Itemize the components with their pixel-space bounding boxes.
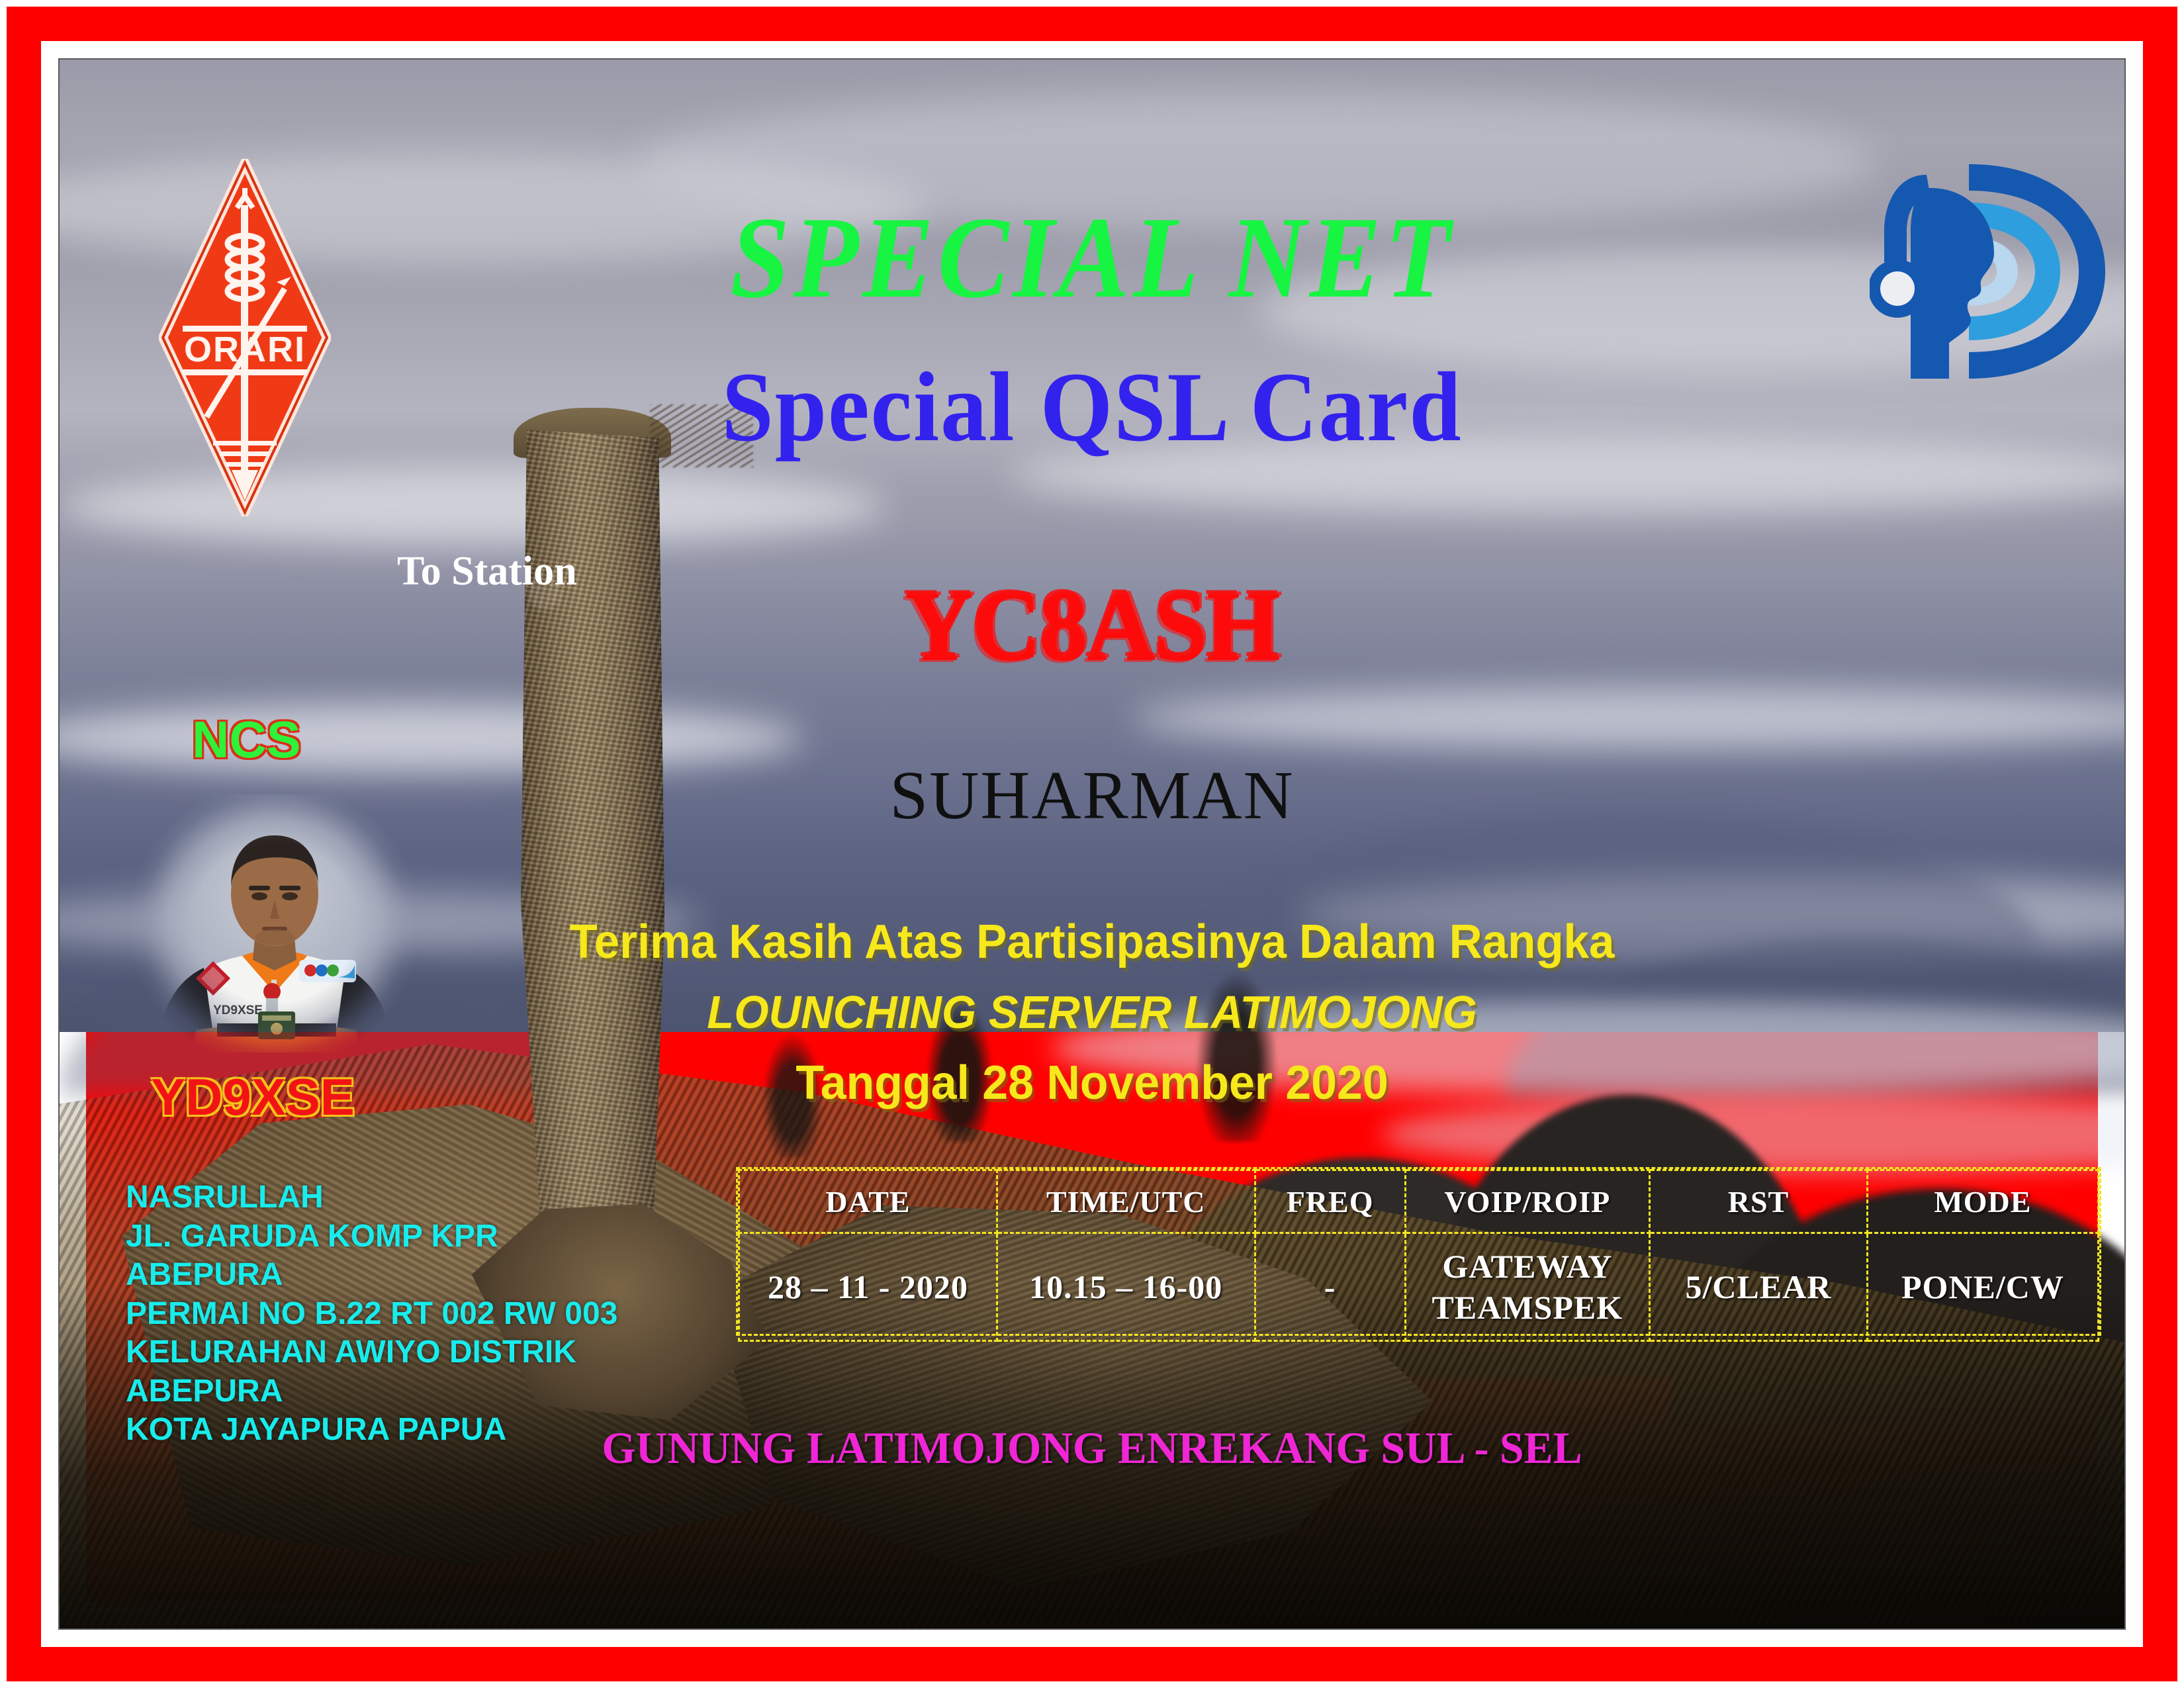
station-callsign: YC8ASH: [111, 576, 2073, 677]
col-header-date: DATE: [739, 1170, 997, 1233]
location-caption: GUNUNG LATIMOJONG ENREKANG SUL - SEL: [91, 1425, 2093, 1470]
cell-voip-roip-line2: TEAMSPEK: [1406, 1287, 1649, 1329]
table-header-row: DATE TIME/UTC FREQ VOIP/ROIP RST MODE: [739, 1170, 2099, 1233]
qsl-card: ORARI: [0, 0, 2184, 1688]
col-header-freq: FREQ: [1255, 1170, 1405, 1233]
page-title: SPECIAL NET: [142, 200, 2042, 316]
page-subtitle: Special QSL Card: [122, 357, 2063, 457]
cell-date: 28 – 11 - 2020: [739, 1233, 997, 1341]
event-date: Tanggal 28 November 2020: [91, 1059, 2093, 1107]
cell-rst: 5/CLEAR: [1650, 1233, 1868, 1341]
col-header-rst: RST: [1650, 1170, 1868, 1233]
operator-portrait-photo: YD9XSE: [132, 794, 417, 1053]
address-line: PERMAI NO B.22 RT 002 RW 003: [126, 1295, 721, 1334]
address-line: JL. GARUDA KOMP KPR: [126, 1217, 721, 1256]
address-line: KELURAHAN AWIYO DISTRIK: [126, 1333, 721, 1372]
address-line: NASRULLAH: [126, 1178, 721, 1217]
table-row: 28 – 11 - 2020 10.15 – 16-00 - GATEWAY T…: [739, 1233, 2099, 1341]
address-line: ABEPURA: [126, 1256, 721, 1295]
background-photo: ORARI: [58, 58, 2126, 1630]
svg-text:YD9XSE: YD9XSE: [213, 1004, 263, 1017]
cell-mode: PONE/CW: [1867, 1233, 2098, 1341]
qso-table: DATE TIME/UTC FREQ VOIP/ROIP RST MODE 28…: [736, 1167, 2101, 1336]
col-header-time: TIME/UTC: [997, 1170, 1255, 1233]
station-callsign-text: YC8ASH: [905, 576, 1279, 677]
cell-voip-roip-line1: GATEWAY: [1406, 1246, 1649, 1288]
ncs-label: NCS: [192, 714, 301, 765]
address-line: ABEPURA: [126, 1372, 721, 1411]
cell-voip-roip: GATEWAY TEAMSPEK: [1405, 1233, 1649, 1341]
col-header-mode: MODE: [1867, 1170, 2098, 1233]
cell-time: 10.15 – 16-00: [997, 1233, 1255, 1341]
cell-freq: -: [1255, 1233, 1405, 1341]
col-header-voip-roip: VOIP/ROIP: [1405, 1170, 1649, 1233]
address-block: NASRULLAH JL. GARUDA KOMP KPR ABEPURA PE…: [126, 1178, 721, 1450]
ncs-callsign: YD9XSE: [151, 1071, 355, 1123]
